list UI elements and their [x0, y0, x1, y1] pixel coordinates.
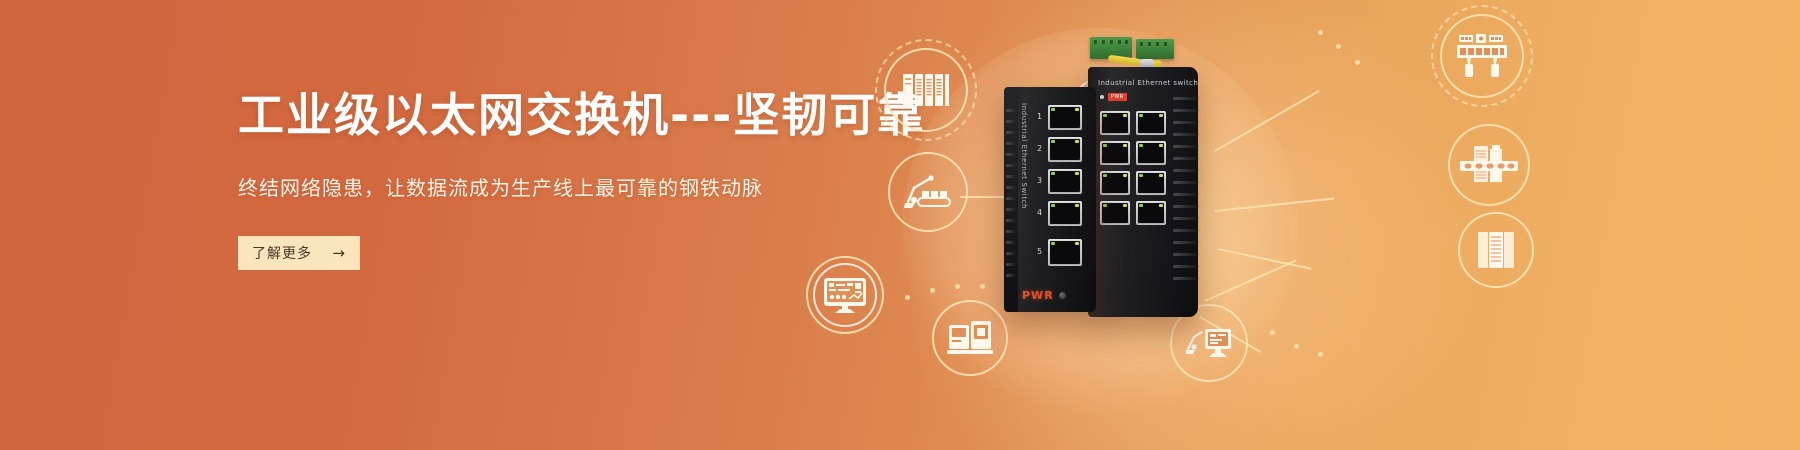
- port-number-1: 1: [1037, 112, 1042, 121]
- terminal-block: [1136, 39, 1174, 59]
- pwr-badge: PWR: [1022, 289, 1066, 302]
- rj45-port: [1100, 171, 1130, 195]
- pwr-tag-label: PWR: [1108, 93, 1127, 101]
- rj45-port-1: [1048, 105, 1082, 130]
- server-cabinet-icon: [1458, 212, 1534, 288]
- icon-bubble-dinrail: [1448, 124, 1530, 206]
- rj45-port: [1100, 141, 1130, 165]
- icon-bubble-monitor: [806, 256, 884, 334]
- icon-bubble-cabinet: [1458, 212, 1534, 288]
- rj45-port: [1136, 201, 1166, 225]
- icon-bubble-robot: [888, 152, 968, 232]
- rj45-port-5: [1048, 239, 1082, 266]
- rj45-port-4: [1048, 201, 1082, 226]
- heat-fins: [1006, 109, 1016, 292]
- connector-line: [1215, 197, 1335, 212]
- port-number-5: 5: [1037, 247, 1042, 256]
- icon-bubble-equipment: [1440, 14, 1524, 98]
- hero-banner: 工业级以太网交换机---坚韧可靠 终结网络隐患，让数据流成为生产线上最可靠的钢铁…: [0, 0, 1800, 450]
- hero-illustration: Industrial Ethernet switch PWR: [0, 0, 1800, 450]
- monitor-scada-icon: [806, 256, 884, 334]
- rj45-port-2: [1048, 137, 1082, 162]
- rj45-port: [1100, 111, 1130, 135]
- connector-line: [1215, 90, 1320, 152]
- switch-front-unit: Industrial Ethernet Switch 1 2 3 4 5 PWR: [1004, 87, 1096, 312]
- rj45-port-3: [1048, 169, 1082, 194]
- din-rail-icon: [1448, 124, 1530, 206]
- port-number-4: 4: [1037, 208, 1042, 217]
- rj45-port: [1100, 201, 1130, 225]
- port-number-2: 2: [1037, 144, 1042, 153]
- plc-rack-icon: [884, 48, 968, 132]
- robot-arm-conveyor-icon: [888, 152, 968, 232]
- port-number-3: 3: [1037, 176, 1042, 185]
- status-knob: [1059, 292, 1066, 299]
- switch-rear-unit: Industrial Ethernet switch PWR: [1088, 67, 1198, 317]
- rj45-port: [1136, 111, 1166, 135]
- rear-pwr-indicator: PWR: [1100, 93, 1127, 101]
- icon-bubble-plc: [884, 48, 968, 132]
- industrial-equipment-icon: [1440, 14, 1524, 98]
- rj45-port: [1136, 141, 1166, 165]
- rear-unit-label: Industrial Ethernet switch: [1098, 79, 1198, 87]
- heat-fins: [1173, 97, 1199, 301]
- industrial-switch-product: Industrial Ethernet switch PWR: [990, 45, 1220, 320]
- front-unit-label: Industrial Ethernet Switch: [1020, 103, 1028, 209]
- rj45-port: [1136, 171, 1166, 195]
- connector-line: [1218, 248, 1311, 270]
- pwr-label: PWR: [1022, 289, 1054, 302]
